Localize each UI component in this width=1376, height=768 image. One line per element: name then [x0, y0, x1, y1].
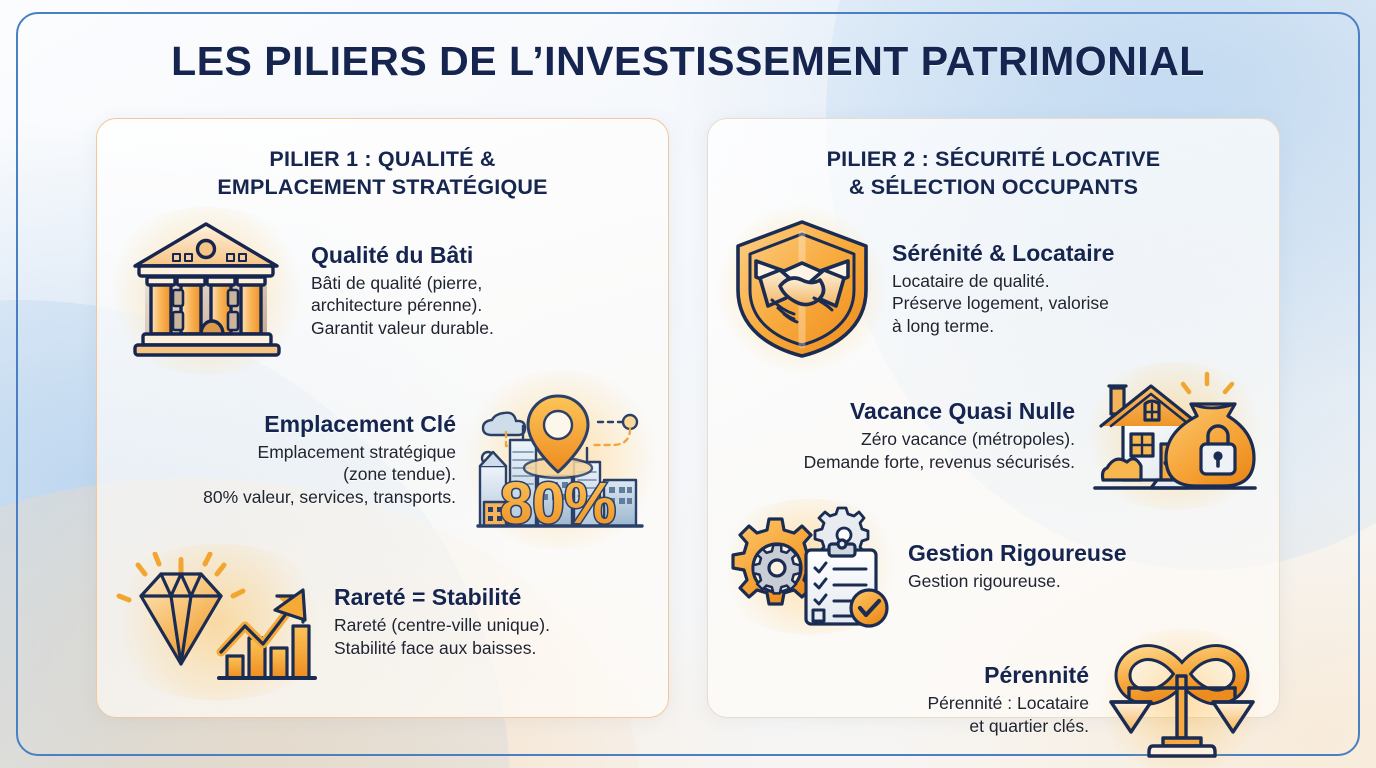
item-text-vacance-quasi-nulle: Vacance Quasi Nulle Zéro vacance (métrop…: [726, 398, 1075, 474]
item-text-gestion-rigoureuse: Gestion Rigoureuse Gestion rigoureuse.: [908, 540, 1261, 593]
pillar-2-items: Sérénité & Locataire Locataire de qualit…: [726, 214, 1261, 764]
item-text-serenite-locataire: Sérénité & Locataire Locataire de qualit…: [892, 240, 1261, 338]
item-gestion-rigoureuse[interactable]: Gestion Rigoureuse Gestion rigoureuse.: [726, 506, 1261, 628]
item-serenite-locataire[interactable]: Sérénité & Locataire Locataire de qualit…: [726, 214, 1261, 364]
item-rarete-stabilite[interactable]: Rareté = Stabilité Rareté (centre-ville …: [115, 552, 650, 692]
bank-building-icon: [115, 216, 297, 366]
item-description: Locataire de qualité. Préserve logement,…: [892, 270, 1261, 338]
item-text-emplacement-cle: Emplacement Clé Emplacement stratégique …: [115, 411, 456, 509]
pillar-1-card: PILIER 1 : QUALITÉ & EMPLACEMENT STRATÉG…: [96, 118, 669, 718]
item-title: Gestion Rigoureuse: [908, 540, 1261, 567]
item-title: Vacance Quasi Nulle: [726, 398, 1075, 425]
pillar-2-card: PILIER 2 : SÉCURITÉ LOCATIVE & SÉLECTION…: [707, 118, 1280, 718]
item-text-qualite-du-bati: Qualité du Bâti Bâti de qualité (pierre,…: [311, 242, 650, 340]
city-skyline-location-80-percent-icon: 80%: [470, 380, 650, 540]
item-vacance-quasi-nulle[interactable]: Vacance Quasi Nulle Zéro vacance (métrop…: [726, 370, 1261, 502]
infographic-canvas: LES PILIERS DE L’INVESTISSEMENT PATRIMON…: [0, 0, 1376, 768]
gears-checklist-icon: [726, 506, 894, 628]
item-text-perennite: Pérennité Pérennité : Locataire et quart…: [726, 662, 1089, 738]
item-description: Rareté (centre-ville unique). Stabilité …: [334, 614, 650, 660]
item-title: Qualité du Bâti: [311, 242, 650, 269]
icon-80-percent-label: 80%: [500, 471, 616, 536]
item-title: Pérennité: [726, 662, 1089, 689]
page-title: LES PILIERS DE L’INVESTISSEMENT PATRIMON…: [0, 38, 1376, 85]
item-description: Emplacement stratégique (zone tendue). 8…: [115, 441, 456, 509]
pillar-1-title: PILIER 1 : QUALITÉ & EMPLACEMENT STRATÉG…: [115, 145, 650, 202]
pillar-1-items: Qualité du Bâti Bâti de qualité (pierre,…: [115, 214, 650, 692]
item-qualite-du-bati[interactable]: Qualité du Bâti Bâti de qualité (pierre,…: [115, 216, 650, 366]
item-perennite[interactable]: Pérennité Pérennité : Locataire et quart…: [726, 636, 1261, 764]
item-title: Emplacement Clé: [115, 411, 456, 438]
item-description: Pérennité : Locataire et quartier clés.: [726, 692, 1089, 738]
house-money-bag-lock-icon: [1089, 370, 1261, 502]
item-emplacement-cle[interactable]: 80% Emplacement Clé Emplacement stratégi…: [115, 380, 650, 540]
infinity-scales-icon: [1103, 636, 1261, 764]
pillars-container: PILIER 1 : QUALITÉ & EMPLACEMENT STRATÉG…: [96, 118, 1280, 718]
item-text-rarete-stabilite: Rareté = Stabilité Rareté (centre-ville …: [334, 584, 650, 660]
item-description: Gestion rigoureuse.: [908, 570, 1261, 593]
pillar-2-title: PILIER 2 : SÉCURITÉ LOCATIVE & SÉLECTION…: [726, 145, 1261, 202]
item-description: Bâti de qualité (pierre, architecture pé…: [311, 272, 650, 340]
diamond-growth-chart-icon: [115, 552, 320, 692]
item-title: Sérénité & Locataire: [892, 240, 1261, 267]
shield-handshake-icon: [726, 214, 878, 364]
item-title: Rareté = Stabilité: [334, 584, 650, 611]
item-description: Zéro vacance (métropoles). Demande forte…: [726, 428, 1075, 474]
